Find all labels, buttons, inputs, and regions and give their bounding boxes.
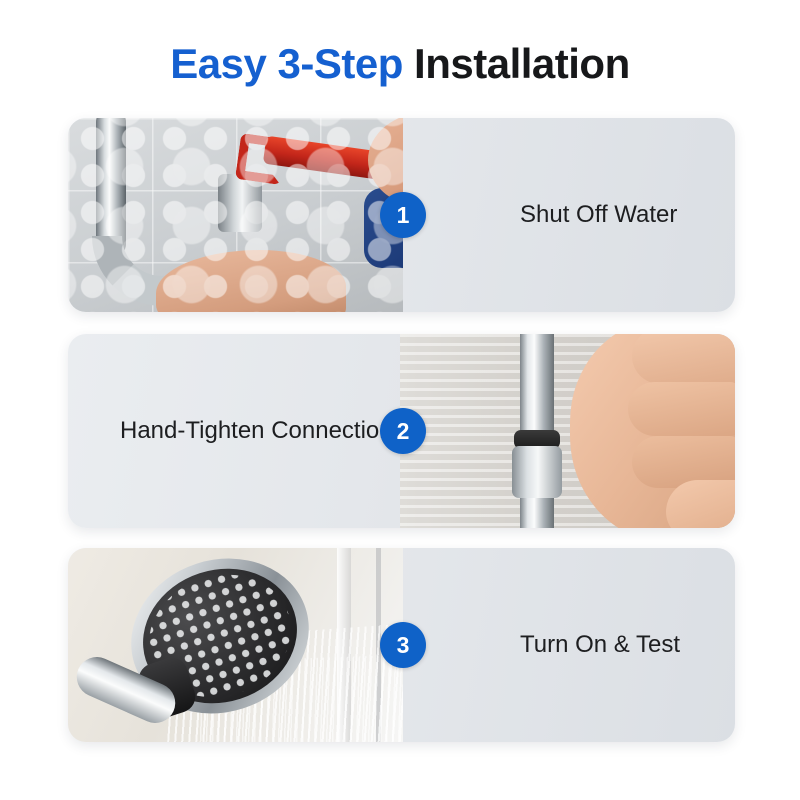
step-badge-3: 3 <box>380 622 426 668</box>
finger-shape-1 <box>632 334 735 384</box>
step-label-1: Shut Off Water <box>520 118 735 312</box>
hex-coupling-shape <box>512 446 562 498</box>
step-label-3: Turn On & Test <box>520 548 735 742</box>
page-title-accent: Easy 3-Step <box>170 40 403 87</box>
wrench-on-pipe-photo <box>68 118 403 312</box>
water-droplets-texture <box>68 118 403 312</box>
step-card-1[interactable]: 1 Shut Off Water <box>68 118 735 312</box>
step-card-2[interactable]: 2 Hand-Tighten Connection <box>68 334 735 528</box>
step-badge-1: 1 <box>380 192 426 238</box>
page-title: Easy 3-Step Installation <box>0 38 800 90</box>
finger-shape-2 <box>628 382 735 436</box>
installation-steps-page: Easy 3-Step Installation 1 Shut Off Wate… <box>0 0 800 800</box>
palm-shape <box>570 334 735 528</box>
step-badge-2: 2 <box>380 408 426 454</box>
hand-tightening-hose-photo <box>400 334 735 528</box>
showerhead-spraying-photo <box>68 548 403 742</box>
step-label-2: Hand-Tighten Connection <box>120 334 420 528</box>
step-card-3[interactable]: 3 Turn On & Test <box>68 548 735 742</box>
thumb-shape <box>666 480 735 528</box>
page-title-rest: Installation <box>403 40 630 87</box>
